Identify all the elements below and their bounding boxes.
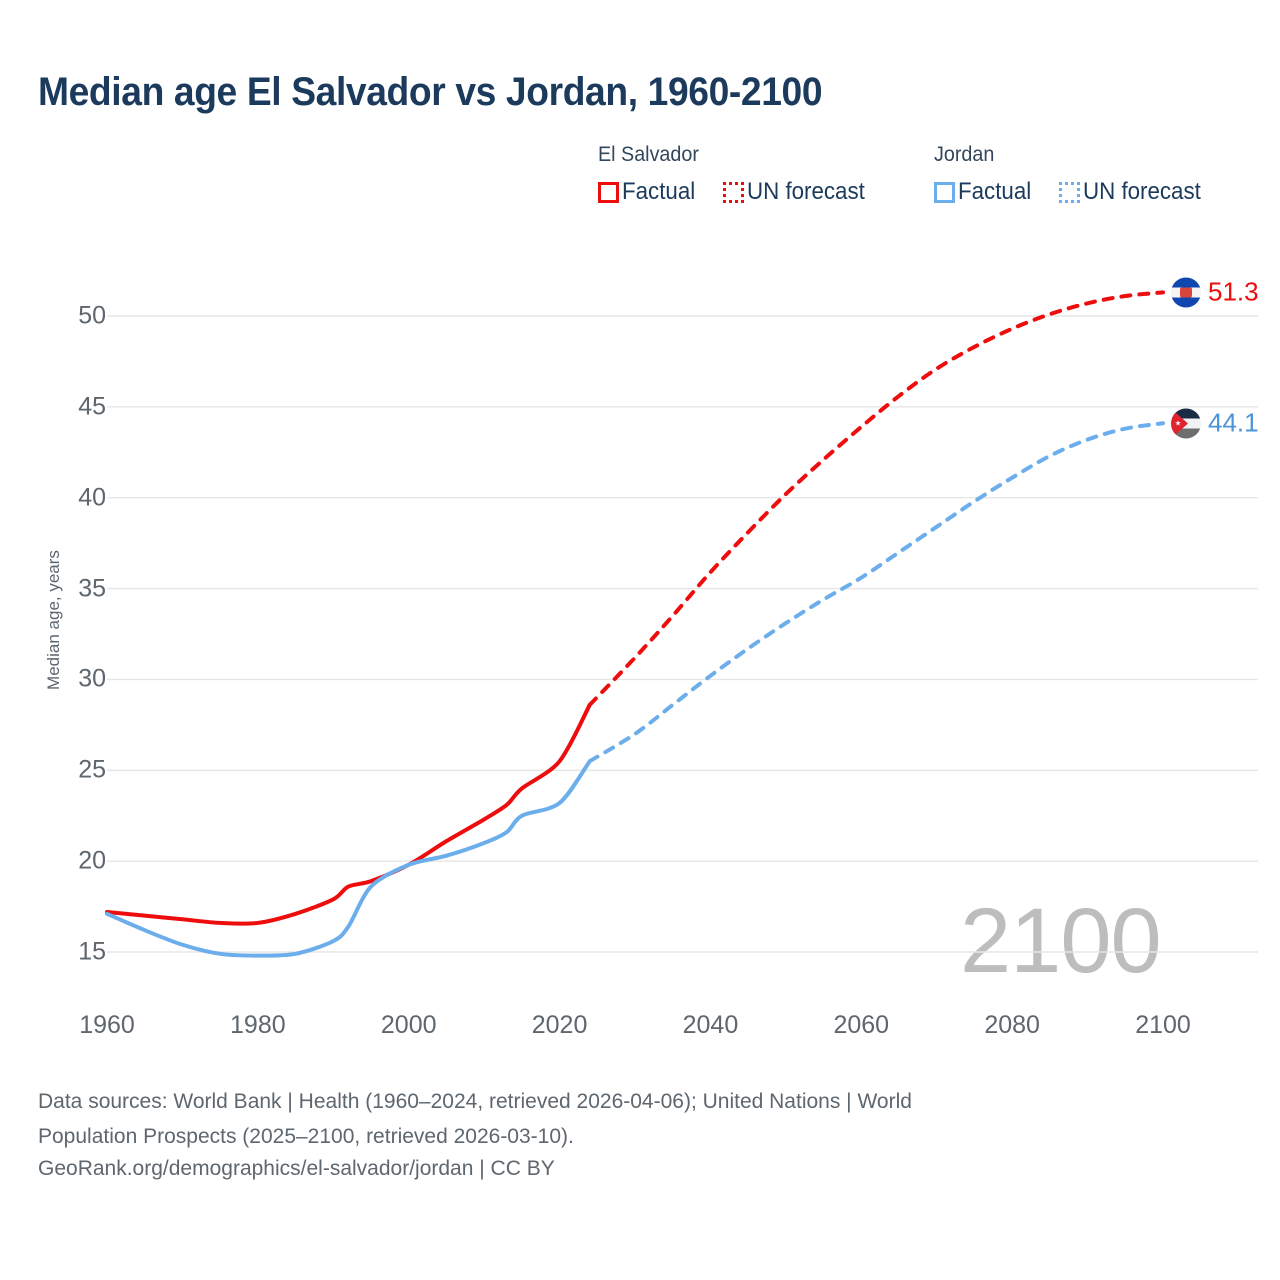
legend-swatch-dotted-blue-icon: [1059, 182, 1080, 203]
x-axis-tick-label: 2080: [984, 1011, 1040, 1040]
series-line-factual-el-salvador: [107, 705, 590, 924]
series-lines: [107, 292, 1163, 955]
legend-group-el-salvador: El Salvador Factual UN forecast: [598, 143, 873, 206]
x-axis-tick-label: 1980: [230, 1011, 286, 1040]
legend-swatch-solid-blue-icon: [934, 182, 955, 203]
y-axis-tick-label: 30: [0, 665, 106, 694]
legend-item-el-salvador-forecast[interactable]: UN forecast: [723, 178, 874, 206]
y-axis-title: Median age, years: [44, 520, 64, 720]
legend-swatch-dotted-red-icon: [723, 182, 744, 203]
legend-heading-el-salvador: El Salvador: [598, 143, 857, 167]
end-marker-jordan: 44.1: [1171, 408, 1259, 439]
end-value-jordan: 44.1: [1208, 408, 1259, 439]
series-line-forecast-el-salvador: [590, 292, 1163, 704]
series-line-forecast-jordan: [590, 423, 1163, 761]
jordan-flag-icon: [1171, 408, 1201, 438]
y-axis-tick-label: 35: [0, 574, 106, 603]
footer-sources: Data sources: World Bank | Health (1960–…: [38, 1086, 1218, 1186]
el-salvador-flag-icon: [1171, 277, 1201, 307]
series-line-factual-jordan: [107, 761, 590, 955]
y-axis-tick-label: 20: [0, 847, 106, 876]
legend-item-el-salvador-factual[interactable]: Factual: [598, 178, 701, 206]
end-marker-el-salvador: 51.3: [1171, 277, 1259, 308]
legend-label-el-salvador-forecast: UN forecast: [747, 178, 865, 206]
y-axis-tick-label: 50: [0, 302, 106, 331]
legend-item-jordan-forecast[interactable]: UN forecast: [1059, 178, 1210, 206]
y-axis-tick-label: 40: [0, 483, 106, 512]
gridlines: [107, 316, 1258, 952]
page-title: Median age El Salvador vs Jordan, 1960-2…: [38, 70, 822, 115]
x-axis-tick-label: 2020: [532, 1011, 588, 1040]
footer-line-2: Population Prospects (2025–2100, retriev…: [38, 1121, 1218, 1154]
legend-swatch-solid-red-icon: [598, 182, 619, 203]
legend-heading-jordan: Jordan: [934, 143, 1193, 167]
y-axis-tick-label: 15: [0, 938, 106, 967]
legend-label-el-salvador-factual: Factual: [622, 178, 695, 206]
footer-line-1: Data sources: World Bank | Health (1960–…: [38, 1086, 1218, 1119]
legend-group-jordan: Jordan Factual UN forecast: [934, 143, 1209, 206]
x-axis-tick-label: 1960: [79, 1011, 135, 1040]
legend-item-jordan-factual[interactable]: Factual: [934, 178, 1037, 206]
y-axis-tick-label: 25: [0, 756, 106, 785]
legend-label-jordan-forecast: UN forecast: [1083, 178, 1201, 206]
footer-line-3: GeoRank.org/demographics/el-salvador/jor…: [38, 1153, 1218, 1186]
end-value-el-salvador: 51.3: [1208, 277, 1259, 308]
year-watermark: 2100: [960, 895, 1161, 987]
legend-label-jordan-factual: Factual: [958, 178, 1031, 206]
chart-container: Median age El Salvador vs Jordan, 1960-2…: [0, 0, 1280, 1280]
x-axis-tick-label: 2060: [833, 1011, 889, 1040]
x-axis-tick-label: 2000: [381, 1011, 437, 1040]
x-axis-tick-label: 2040: [683, 1011, 739, 1040]
x-axis-tick-label: 2100: [1135, 1011, 1191, 1040]
chart-legend: El Salvador Factual UN forecast Jordan F…: [598, 143, 1258, 225]
y-axis-tick-label: 45: [0, 392, 106, 421]
